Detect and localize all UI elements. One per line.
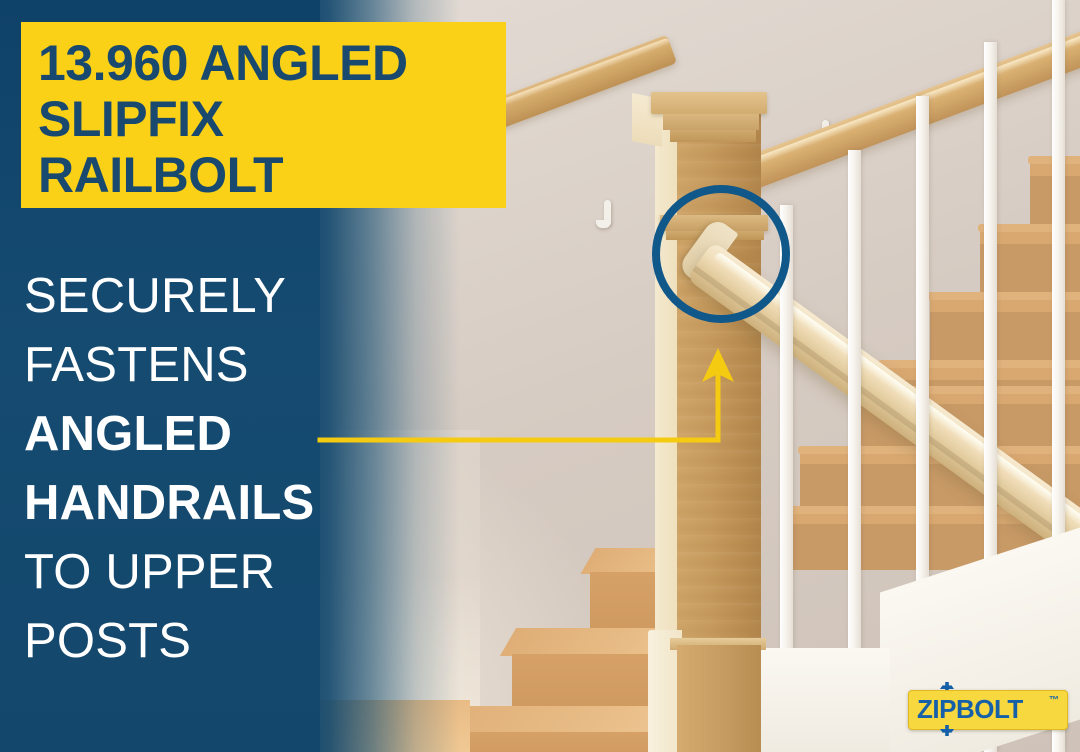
body-line-6: POSTS — [24, 607, 424, 676]
newel-post-cap-mid — [663, 114, 759, 130]
body-line-1: SECURELY — [24, 262, 424, 331]
newel-post-cap-bevel — [670, 130, 756, 142]
body-line-5: TO UPPER — [24, 538, 424, 607]
newel-post-base — [677, 645, 761, 752]
zipbolt-logo[interactable]: ZIPBOLT ™ — [908, 690, 1066, 728]
highlight-circle — [652, 185, 790, 323]
body-line-2: FASTENS — [24, 331, 424, 400]
body-line-3: ANGLED — [24, 400, 424, 469]
poster: 13.960 ANGLED SLIPFIX RAILBOLT SECURELY … — [0, 0, 1080, 752]
logo-wordmark: ZIPBOLT — [917, 695, 1023, 723]
body-line-4: HANDRAILS — [24, 469, 424, 538]
bolt-icon — [939, 725, 955, 736]
upper-stair-flight — [880, 120, 1080, 420]
body-copy: SECURELY FASTENS ANGLED HANDRAILS TO UPP… — [24, 262, 424, 676]
headline-box: 13.960 ANGLED SLIPFIX RAILBOLT — [21, 22, 506, 208]
trademark-mark: ™ — [1049, 696, 1059, 706]
stair-skirt-board — [760, 648, 890, 752]
wall-handrail-bracket — [604, 200, 611, 226]
newel-post-cap — [651, 92, 767, 114]
page-title: 13.960 ANGLED SLIPFIX RAILBOLT — [38, 35, 498, 203]
